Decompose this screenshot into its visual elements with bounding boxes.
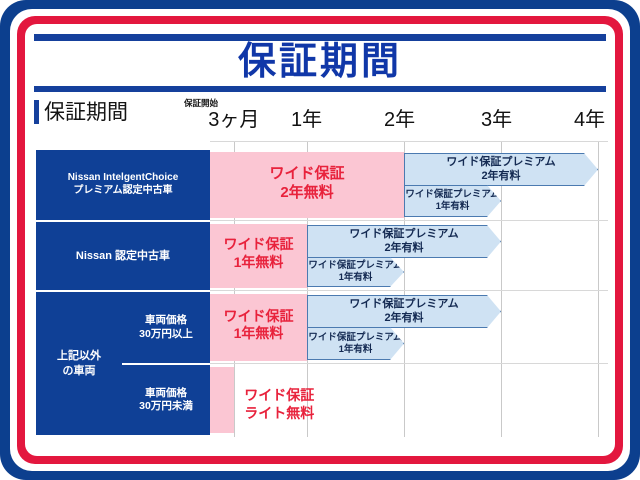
free-warranty-label-line2: 1年無料 bbox=[199, 325, 319, 343]
category-cell-other-vehicles: 上記以外の車両 bbox=[36, 292, 122, 435]
free-warranty-bar-row-3 bbox=[210, 367, 234, 433]
category-label-line: Nissan IntelgentChoice bbox=[68, 172, 179, 185]
row-separator bbox=[210, 141, 608, 142]
free-warranty-label-line2: ライト無料 bbox=[244, 405, 314, 423]
free-warranty-label-line2: 2年無料 bbox=[247, 184, 367, 203]
row-separator bbox=[210, 290, 608, 291]
free-warranty-label-row-2: ワイド保証1年無料 bbox=[199, 308, 319, 343]
category-label-line: 上記以外 bbox=[57, 349, 101, 363]
category-label-line: 車両価格 bbox=[145, 387, 187, 400]
subcategory-cell-price-under-300k: 車両価格30万円未満 bbox=[122, 365, 210, 435]
paid-premium-arrow-row-2-1: ワイド保証プレミアム1年有料 bbox=[307, 327, 404, 360]
paid-premium-arrow-row-0-1: ワイド保証プレミアム1年有料 bbox=[404, 185, 501, 217]
axis-tick-label-2: 2年 bbox=[384, 110, 415, 130]
paid-premium-label-line2: 2年有料 bbox=[384, 242, 423, 255]
category-label-line: 30万円未満 bbox=[139, 400, 193, 413]
gridline-4 bbox=[598, 141, 599, 437]
category-cell-premium-certified: Nissan IntelgentChoiceプレミアム認定中古車 bbox=[36, 150, 210, 220]
row-separator bbox=[210, 220, 608, 221]
paid-premium-label-line2: 1年有料 bbox=[436, 201, 470, 213]
paid-premium-arrow-row-1-0: ワイド保証プレミアム2年有料 bbox=[307, 225, 501, 258]
axis-tick-label-0: 3ヶ月 bbox=[208, 110, 259, 130]
free-warranty-label-row-3: ワイド保証ライト無料 bbox=[244, 387, 314, 422]
free-warranty-label-line1: ワイド保証 bbox=[199, 236, 319, 254]
paid-premium-label-line1: ワイド保証プレミアム bbox=[349, 228, 458, 241]
category-label-line: Nissan 認定中古車 bbox=[76, 249, 170, 263]
category-cell-certified: Nissan 認定中古車 bbox=[36, 222, 210, 290]
free-warranty-label-line2: 1年無料 bbox=[199, 254, 319, 272]
paid-premium-label-line1: ワイド保証プレミアム bbox=[446, 156, 555, 169]
free-warranty-label-line1: ワイド保証 bbox=[199, 308, 319, 326]
axis-tick-label-1: 1年 bbox=[291, 110, 322, 130]
paid-premium-arrow-row-1-1: ワイド保証プレミアム1年有料 bbox=[307, 257, 404, 287]
paid-premium-label-line2: 1年有料 bbox=[339, 344, 373, 356]
timeline-start-label: 保証開始 bbox=[184, 97, 218, 109]
axis-tick-label-4: 4年 bbox=[574, 110, 605, 130]
paid-premium-label-line1: ワイド保証プレミアム bbox=[349, 298, 458, 311]
free-warranty-label-row-0: ワイド保証2年無料 bbox=[247, 165, 367, 203]
category-label-line: 車両価格 bbox=[145, 314, 187, 327]
paid-premium-label-line1: ワイド保証プレミアム bbox=[308, 260, 402, 272]
paid-premium-label-line2: 2年有料 bbox=[384, 312, 423, 325]
axis-tick-label-3: 3年 bbox=[481, 110, 512, 130]
category-label-line: プレミアム認定中古車 bbox=[73, 185, 172, 198]
paid-premium-label-line1: ワイド保証プレミアム bbox=[405, 189, 499, 201]
category-label-line: の車両 bbox=[63, 364, 96, 378]
category-label-line: 30万円以上 bbox=[139, 328, 193, 341]
free-warranty-label-row-1: ワイド保証1年無料 bbox=[199, 236, 319, 271]
paid-premium-label-line1: ワイド保証プレミアム bbox=[308, 332, 402, 344]
paid-premium-arrow-row-0-0: ワイド保証プレミアム2年有料 bbox=[404, 153, 598, 186]
free-warranty-label-line1: ワイド保証 bbox=[247, 165, 367, 184]
subcategory-cell-price-over-300k: 車両価格30万円以上 bbox=[122, 292, 210, 363]
paid-premium-label-line2: 1年有料 bbox=[339, 272, 373, 284]
free-warranty-label-line1: ワイド保証 bbox=[244, 387, 314, 405]
row-separator bbox=[210, 363, 608, 364]
warranty-timeline-chart: 保証開始3ヶ月1年2年3年4年Nissan IntelgentChoiceプレミ… bbox=[0, 0, 640, 480]
paid-premium-arrow-row-2-0: ワイド保証プレミアム2年有料 bbox=[307, 295, 501, 328]
paid-premium-label-line2: 2年有料 bbox=[481, 170, 520, 183]
